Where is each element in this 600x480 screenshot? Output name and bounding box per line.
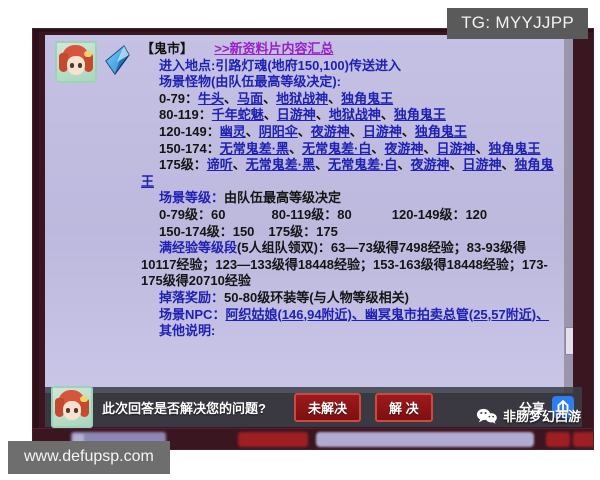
scene-level-2-value: 120 [465, 207, 487, 222]
scene-level-4-value: 175 [316, 224, 338, 239]
feedback-avatar [51, 386, 93, 428]
feedback-question: 此次回答是否解决您的问题? [102, 398, 266, 417]
scene-level-row-b: 150-174级：150175级：175 [141, 224, 559, 241]
tier4-monster-1[interactable]: 无常鬼差·白 [302, 141, 371, 156]
sep: 、 [233, 157, 246, 172]
scene-level-4-range: 175级： [268, 224, 316, 239]
sep: 、 [475, 141, 488, 156]
monsters-heading-line: 场景怪物(由队伍最高等级决定): [141, 74, 559, 91]
scene-level-row-a: 0-79级：6080-119级：80120-149级：120 [141, 207, 559, 224]
tier4-monster-4[interactable]: 独角鬼王 [489, 141, 541, 156]
sep: 、 [397, 157, 410, 172]
tier5-monster-4[interactable]: 日游神 [462, 157, 501, 172]
tier-row-3: 120-149：幽灵、阴阳伞、夜游神、日游神、独角鬼王 [141, 124, 559, 141]
tier4-range: 150-174： [159, 141, 220, 156]
wechat-account-name: 非肠梦幻西游 [503, 406, 581, 425]
player-avatar[interactable] [55, 41, 97, 83]
panel-scrollbar-thumb[interactable] [565, 327, 573, 355]
message-body: 【鬼市】 >>新资料片内容汇总 进入地点:引路灯魂(地府150,100)传送进入… [141, 41, 559, 340]
sep: 、 [402, 124, 415, 139]
scene-level-2-range: 120-149级： [392, 207, 466, 222]
tier5-monster-3[interactable]: 夜游神 [410, 157, 449, 172]
scene-level-0-range: 0-79级： [159, 207, 211, 222]
toolbar-icon-button-1[interactable] [546, 432, 570, 447]
scene-level-label: 场景等级： [159, 190, 224, 205]
entry-location-line: 进入地点:引路灯魂(地府150,100)传送进入 [141, 58, 559, 75]
tier4-monster-2[interactable]: 夜游神 [384, 141, 423, 156]
avatar-hair-bow [84, 51, 92, 57]
wechat-badge: 非肠梦幻西游 [476, 406, 581, 425]
toolbar-action-button[interactable] [238, 432, 308, 447]
tier2-monster-1[interactable]: 日游神 [277, 107, 316, 122]
tier5-monster-1[interactable]: 无常鬼差·黑 [246, 157, 315, 172]
sep: 、 [381, 107, 394, 122]
toolbar-icon-button-2[interactable] [573, 432, 594, 447]
wechat-logo [476, 408, 498, 424]
sep: 、 [298, 124, 311, 139]
tier1-monster-0[interactable]: 牛头 [198, 91, 224, 106]
scene-level-line: 场景等级：由队伍最高等级决定 [141, 190, 559, 207]
tier2-range: 80-119： [159, 107, 212, 122]
tier3-monster-1[interactable]: 阴阳伞 [259, 124, 298, 139]
drop-label: 掉落奖励： [159, 290, 224, 305]
tier3-monster-2[interactable]: 夜游神 [311, 124, 350, 139]
tier1-monster-2[interactable]: 地狱战神 [276, 91, 328, 106]
chat-input-field[interactable] [316, 432, 534, 447]
tier-row-1: 0-79：牛头、马面、地狱战神、独角鬼王 [141, 91, 559, 108]
avatar-eye-right [74, 408, 78, 413]
tier5-monster-2[interactable]: 无常鬼差·白 [328, 157, 397, 172]
avatar-eye-left [66, 408, 70, 413]
scene-level-1-value: 80 [337, 207, 351, 222]
tier1-range: 0-79： [159, 91, 198, 106]
sep: 、 [263, 91, 276, 106]
sep: 、 [316, 107, 329, 122]
summary-link[interactable]: >>新资料片内容汇总 [214, 41, 333, 56]
exp-note: (5人组队领双)： [237, 240, 331, 255]
avatar-eye-right [78, 63, 82, 68]
sep: 、 [502, 157, 515, 172]
sep: 、 [224, 91, 237, 106]
telegram-watermark: TG: MYYJJPP [447, 8, 588, 39]
game-window-frame: 【鬼市】 >>新资料片内容汇总 进入地点:引路灯魂(地府150,100)传送进入… [32, 28, 594, 450]
monsters-heading: 场景怪物(由队伍最高等级决定): [159, 74, 341, 89]
message-header [55, 41, 131, 83]
solved-button[interactable]: 解 决 [375, 393, 433, 422]
entry-label: 进入地点: [159, 58, 215, 73]
panel-scrollbar[interactable] [564, 35, 573, 393]
exp-label: 满经验等级段 [159, 240, 237, 255]
sep: 、 [449, 157, 462, 172]
tier-row-5: 175级：谛听、无常鬼差·黑、无常鬼差·白、夜游神、日游神、独角鬼王 [141, 157, 559, 190]
sep: 、 [315, 157, 328, 172]
tier1-monster-3[interactable]: 独角鬼王 [341, 91, 393, 106]
npc-line: 场景NPC：阿织姑娘(146,94附近)、幽冥鬼市拍卖总管(25,57附近)、 [141, 307, 559, 324]
tier2-monster-3[interactable]: 独角鬼王 [394, 107, 446, 122]
exp-line: 满经验等级段(5人组队领双)：63—73级得7498经验；83-93级得1011… [141, 240, 559, 290]
scene-level-1-range: 80-119级： [272, 207, 338, 222]
avatar-hair-bow [80, 396, 88, 402]
gem-icon [103, 45, 131, 75]
tier3-monster-0[interactable]: 幽灵 [220, 124, 246, 139]
drop-line: 掉落奖励：50-80级环装等(与人物等级相关) [141, 290, 559, 307]
scene-level-value: 由队伍最高等级决定 [224, 190, 341, 205]
npc-label: 场景NPC： [159, 307, 225, 322]
avatar-eye-left [70, 63, 74, 68]
title-line: 【鬼市】 >>新资料片内容汇总 [141, 41, 559, 58]
other-label: 其他说明: [159, 323, 215, 338]
scene-level-3-range: 150-174级： [159, 224, 233, 239]
sep: 、 [328, 91, 341, 106]
tier5-monster-0[interactable]: 谛听 [207, 157, 233, 172]
entry-value: 引路灯魂(地府150,100)传送进入 [215, 58, 401, 73]
scene-level-0-value: 60 [211, 207, 225, 222]
sep: 、 [246, 124, 259, 139]
sep: 、 [371, 141, 384, 156]
tier2-monster-2[interactable]: 地狱战神 [329, 107, 381, 122]
msg-title: 【鬼市】 [141, 41, 193, 56]
sep: 、 [423, 141, 436, 156]
unsolved-button[interactable]: 未解决 [294, 393, 361, 422]
tier3-monster-4[interactable]: 独角鬼王 [415, 124, 467, 139]
tier5-range: 175级： [159, 157, 207, 172]
tier-row-4: 150-174：无常鬼差·黑、无常鬼差·白、夜游神、日游神、独角鬼王 [141, 141, 559, 158]
sep: 、 [350, 124, 363, 139]
scene-level-3-value: 150 [233, 224, 255, 239]
message-content-panel: 【鬼市】 >>新资料片内容汇总 进入地点:引路灯魂(地府150,100)传送进入… [45, 35, 573, 393]
sep: 、 [264, 107, 277, 122]
tier4-monster-0[interactable]: 无常鬼差·黑 [220, 141, 289, 156]
site-watermark: www.defupsp.com [8, 441, 170, 474]
tier3-range: 120-149： [159, 124, 220, 139]
sep: 、 [289, 141, 302, 156]
drop-value: 50-80级环装等(与人物等级相关) [224, 290, 409, 305]
tier3-monster-3[interactable]: 日游神 [363, 124, 402, 139]
npc-list[interactable]: 阿织姑娘(146,94附近)、幽冥鬼市拍卖总管(25,57附近)、 [225, 307, 549, 322]
tier-row-2: 80-119：千年蛇魅、日游神、地狱战神、独角鬼王 [141, 107, 559, 124]
other-line: 其他说明: [141, 323, 559, 340]
tier1-monster-1[interactable]: 马面 [237, 91, 263, 106]
tier2-monster-0[interactable]: 千年蛇魅 [212, 107, 264, 122]
tier4-monster-3[interactable]: 日游神 [436, 141, 475, 156]
